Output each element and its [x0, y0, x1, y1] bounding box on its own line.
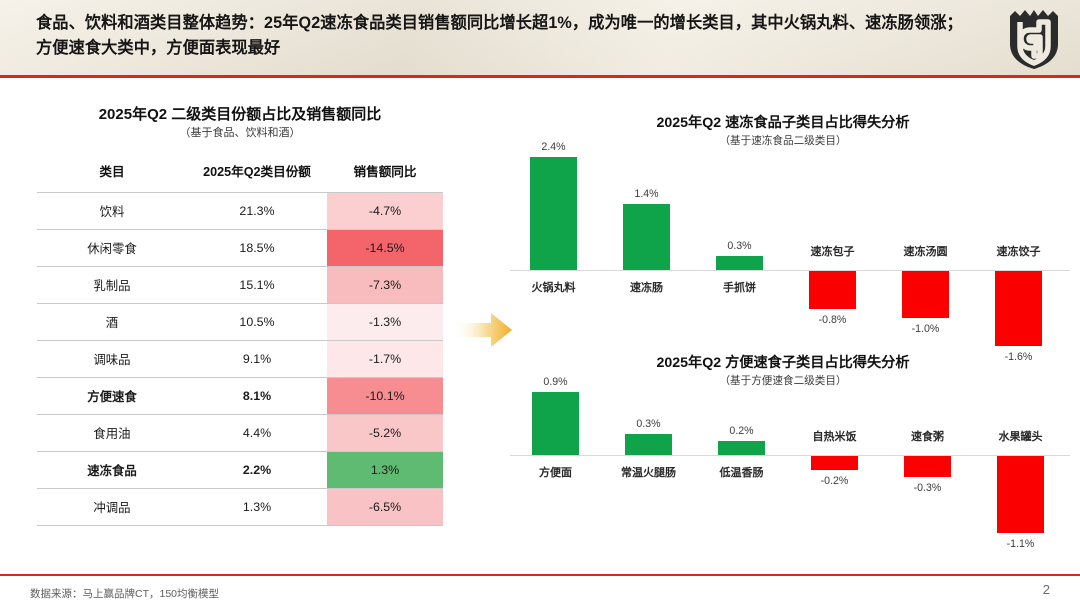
bar-category-label: 方便面: [512, 464, 599, 480]
bar-category-label: 速冻肠: [603, 279, 690, 295]
bar-value-label: -1.1%: [983, 538, 1058, 550]
table-row: 食用油4.4%-5.2%: [37, 415, 443, 452]
chart-2-baseline: [510, 455, 1070, 456]
cell-category: 乳制品: [37, 267, 187, 304]
cell-category: 休闲零食: [37, 230, 187, 267]
bar-positive: [532, 392, 579, 455]
table-row: 乳制品15.1%-7.3%: [37, 267, 443, 304]
bar-positive: [718, 441, 765, 455]
bar-category-label: 自热米饭: [791, 428, 878, 444]
cell-yoy: -5.2%: [327, 415, 443, 452]
table-title: 2025年Q2 二级类目份额占比及销售额同比: [37, 103, 443, 124]
cell-share: 18.5%: [187, 230, 327, 267]
table-row: 饮料21.3%-4.7%: [37, 193, 443, 230]
table-row: 速冻食品2.2%1.3%: [37, 452, 443, 489]
cell-share: 9.1%: [187, 341, 327, 378]
cell-category: 调味品: [37, 341, 187, 378]
bar-category-label: 火锅丸料: [510, 279, 597, 295]
bar-category-label: 手抓饼: [696, 279, 783, 295]
slide-header: 食品、饮料和酒类目整体趋势：25年Q2速冻食品类目销售额同比增长超1%，成为唯一…: [0, 0, 1080, 78]
bar-positive: [625, 434, 672, 455]
bar-negative: [995, 271, 1042, 346]
cell-share: 8.1%: [187, 378, 327, 415]
cell-share: 4.4%: [187, 415, 327, 452]
bar-value-label: -1.0%: [888, 323, 963, 335]
cell-yoy: -14.5%: [327, 230, 443, 267]
chart-1-plot: 2.4%火锅丸料1.4%速冻肠0.3%手抓饼-0.8%速冻包子-1.0%速冻汤圆…: [510, 155, 1070, 335]
bar-category-label: 水果罐头: [977, 428, 1064, 444]
cell-share: 10.5%: [187, 304, 327, 341]
bar-category-label: 速冻饺子: [975, 243, 1062, 259]
cell-share: 1.3%: [187, 489, 327, 526]
table-row: 冲调品1.3%-6.5%: [37, 489, 443, 526]
cell-category: 速冻食品: [37, 452, 187, 489]
bar-category-label: 速食粥: [884, 428, 971, 444]
cell-yoy: 1.3%: [327, 452, 443, 489]
cell-yoy: -7.3%: [327, 267, 443, 304]
column-header-yoy: 销售额同比: [327, 152, 443, 193]
bar-value-label: 2.4%: [516, 141, 591, 153]
cell-yoy: -10.1%: [327, 378, 443, 415]
table-header-row: 类目 2025年Q2类目份额 销售额同比: [37, 152, 443, 193]
bar-value-label: -0.8%: [795, 314, 870, 326]
cell-category: 冲调品: [37, 489, 187, 526]
bar-positive: [716, 256, 763, 270]
table-subtitle: （基于食品、饮料和酒）: [37, 124, 443, 140]
bar-value-label: 1.4%: [609, 188, 684, 200]
brand-shield-logo: [1006, 8, 1062, 70]
cell-share: 21.3%: [187, 193, 327, 230]
cell-yoy: -4.7%: [327, 193, 443, 230]
cell-share: 15.1%: [187, 267, 327, 304]
table-row: 休闲零食18.5%-14.5%: [37, 230, 443, 267]
bar-category-label: 速冻包子: [789, 243, 876, 259]
flow-arrow-right: [455, 310, 513, 350]
bar-value-label: 0.3%: [702, 240, 777, 252]
chart-1-subtitle: （基于速冻食品二级类目）: [523, 133, 1043, 148]
cell-category: 饮料: [37, 193, 187, 230]
bar-negative: [811, 456, 858, 470]
table-row: 方便速食8.1%-10.1%: [37, 378, 443, 415]
bar-positive: [530, 157, 577, 270]
column-header-category: 类目: [37, 152, 187, 193]
table-row: 酒10.5%-1.3%: [37, 304, 443, 341]
cell-yoy: -1.7%: [327, 341, 443, 378]
bar-negative: [997, 456, 1044, 533]
table-row: 调味品9.1%-1.7%: [37, 341, 443, 378]
page-title: 食品、饮料和酒类目整体趋势：25年Q2速冻食品类目销售额同比增长超1%，成为唯一…: [36, 11, 966, 61]
bar-negative: [809, 271, 856, 309]
bar-positive: [623, 204, 670, 270]
bar-value-label: -0.3%: [890, 482, 965, 494]
bar-value-label: 0.3%: [611, 418, 686, 430]
bar-value-label: 0.2%: [704, 425, 779, 437]
bar-negative: [904, 456, 951, 477]
footer-source: 数据来源：马上赢品牌CT，150均衡模型: [30, 586, 219, 601]
bar-category-label: 常温火腿肠: [605, 464, 692, 480]
cell-category: 酒: [37, 304, 187, 341]
bar-category-label: 速冻汤圆: [882, 243, 969, 259]
bar-value-label: -0.2%: [797, 475, 872, 487]
slide: 食品、饮料和酒类目整体趋势：25年Q2速冻食品类目销售额同比增长超1%，成为唯一…: [0, 0, 1080, 608]
cell-yoy: -6.5%: [327, 489, 443, 526]
bar-value-label: 0.9%: [518, 376, 593, 388]
column-header-share: 2025年Q2类目份额: [187, 152, 327, 193]
cell-category: 食用油: [37, 415, 187, 452]
bar-category-label: 低温香肠: [698, 464, 785, 480]
cell-category: 方便速食: [37, 378, 187, 415]
chart-2-plot: 0.9%方便面0.3%常温火腿肠0.2%低温香肠-0.2%自热米饭-0.3%速食…: [510, 348, 1070, 563]
chart-1-title: 2025年Q2 速冻食品子类目占比得失分析: [523, 112, 1043, 132]
category-share-table: 类目 2025年Q2类目份额 销售额同比 饮料21.3%-4.7%休闲零食18.…: [37, 152, 443, 526]
chart-1-baseline: [510, 270, 1070, 271]
cell-yoy: -1.3%: [327, 304, 443, 341]
bar-negative: [902, 271, 949, 318]
footer-page-number: 2: [1043, 582, 1050, 597]
cell-share: 2.2%: [187, 452, 327, 489]
